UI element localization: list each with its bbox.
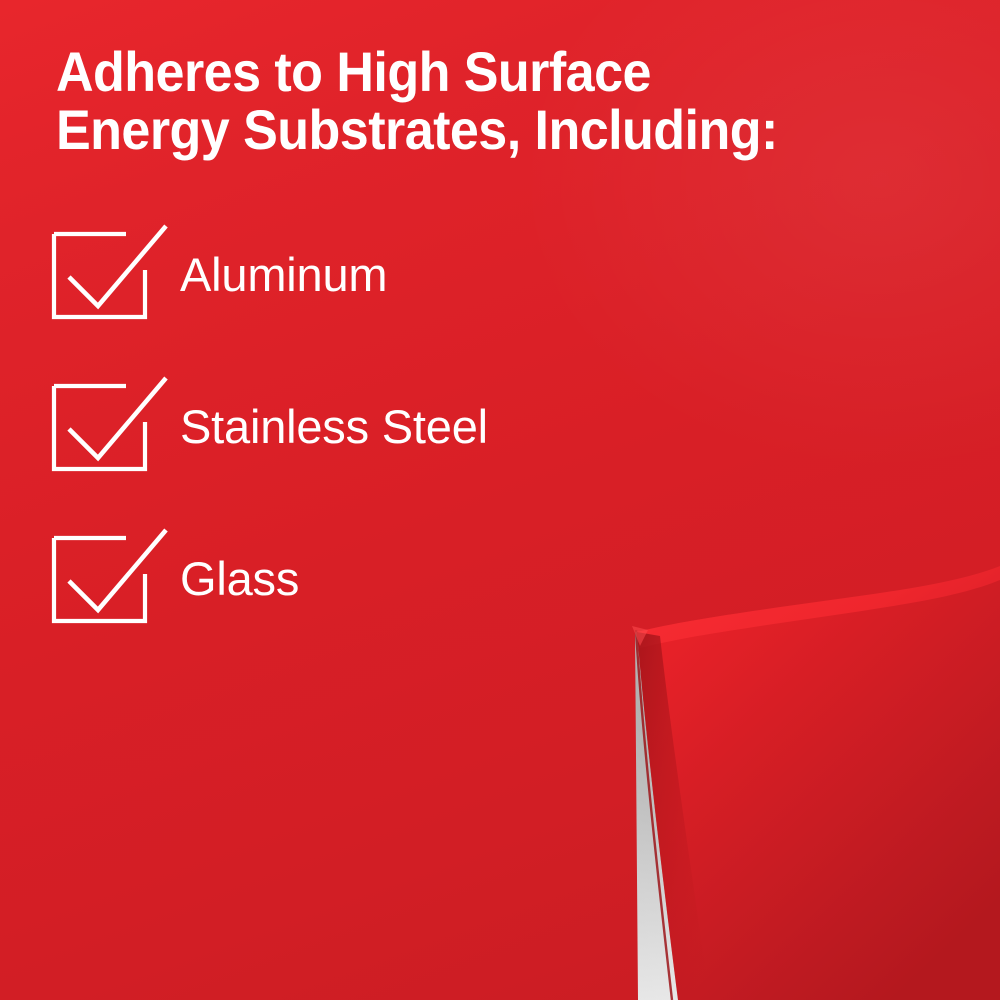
list-item-label: Stainless Steel <box>180 399 488 455</box>
checkbox-checked-icon <box>50 526 170 631</box>
checkbox-checked-icon <box>50 374 170 479</box>
list-item: Aluminum <box>50 222 750 374</box>
list-item-label: Glass <box>180 551 299 607</box>
list-item-label: Aluminum <box>180 247 387 303</box>
substrate-checklist: Aluminum Stainless Steel <box>50 222 750 678</box>
poster-canvas: Adheres to High Surface Energy Substrate… <box>0 0 1000 1000</box>
checkbox-checked-icon <box>50 222 170 327</box>
poster-content: Adheres to High Surface Energy Substrate… <box>0 0 1000 1000</box>
list-item: Glass <box>50 526 750 678</box>
list-item: Stainless Steel <box>50 374 750 526</box>
page-title: Adheres to High Surface Energy Substrate… <box>56 43 912 159</box>
